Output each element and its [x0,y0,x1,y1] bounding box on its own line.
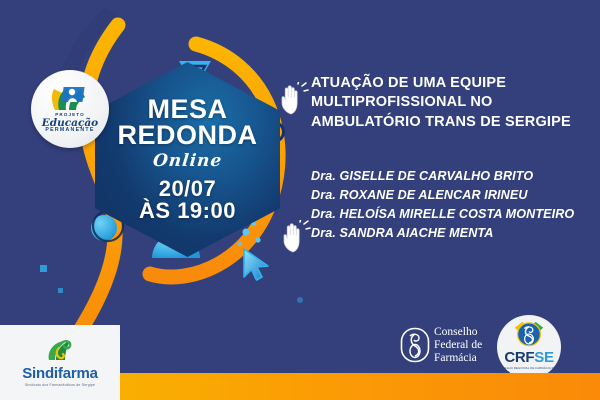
projeto-educacao-permanente-logo: PROJETO Educação PERMANENTE [31,70,109,148]
cff-logo: Conselho Federal de Farmácia [400,326,482,365]
badge-date: 20/07 [139,178,236,200]
cff-line2: Federal de [434,339,482,352]
crf-emblem-icon [512,320,546,349]
sindifarma-subtitle: Sindicato dos Farmacêuticos de Sergipe [25,383,95,387]
badge-subtitle: Online [152,151,223,171]
crf-se-logo: CRFSE CONSELHO REGIONAL DE FARMÁCIA DE S… [496,320,562,374]
cff-line3: Farmácia [434,352,482,365]
projeto-logo-line3: PERMANENTE [42,128,98,133]
arrow-cursor-icon [240,247,274,285]
crf-subtitle: CONSELHO REGIONAL DE FARMÁCIA DE SERGIPE [496,366,562,374]
badge-title-line1: MESA [117,97,257,123]
crf-name-secondary: SE [534,349,553,366]
pointing-hand-cursor-icon-top [279,82,309,116]
event-badge: MESA REDONDA Online 20/07 ÀS 19:00 [95,62,280,257]
sindifarma-logo-mark [43,338,77,364]
sindifarma-logo: Sindifarma Sindicato dos Farmacêuticos d… [0,325,120,400]
crf-name-primary: CRF [504,349,534,366]
poster-canvas: MESA REDONDA Online 20/07 ÀS 19:00 [0,0,600,400]
bottom-orange-bar [88,373,600,400]
headline: ATUAÇÃO DE UMA EQUIPE MULTIPROFISSIONAL … [311,74,586,132]
headline-line-2: MULTIPROFISSIONAL NO [311,93,586,112]
speaker-item: Dra. HELOÍSA MIRELLE COSTA MONTEIRO [311,205,591,224]
badge-time: ÀS 19:00 [139,200,236,222]
speaker-item: Dra. SANDRA AIACHE MENTA [311,224,591,243]
headline-line-3: AMBULATÓRIO TRANS DE SERGIPE [311,113,586,132]
speaker-item: Dra. GISELLE DE CARVALHO BRITO [311,167,591,186]
speaker-list: Dra. GISELLE DE CARVALHO BRITO Dra. ROXA… [311,167,591,244]
speaker-item: Dra. ROXANE DE ALENCAR IRINEU [311,186,591,205]
headline-line-1: ATUAÇÃO DE UMA EQUIPE [311,74,586,93]
cff-hygieia-icon [400,327,430,363]
badge-title-line2: REDONDA [117,123,257,149]
sindifarma-name: Sindifarma [22,365,98,382]
projeto-logo-mark [45,84,95,112]
cff-line1: Conselho [434,326,482,339]
pointing-hand-cursor-icon-bottom [281,220,311,254]
